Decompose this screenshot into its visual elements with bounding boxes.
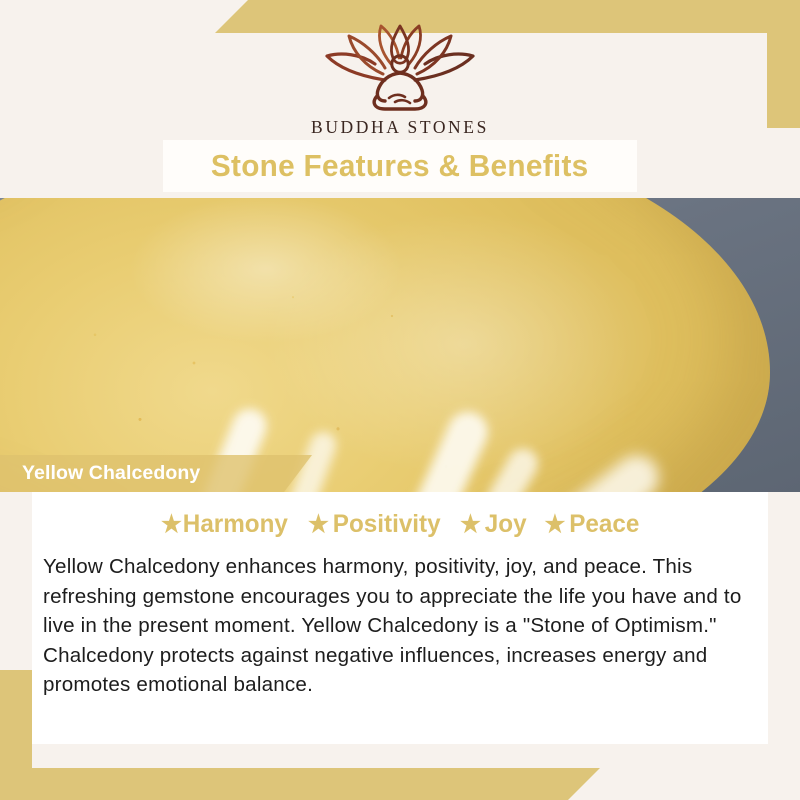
benefit-item-peace: ★ Peace (545, 510, 640, 539)
benefit-item-harmony: ★ Harmony (161, 510, 288, 539)
benefit-label: Positivity (333, 510, 441, 539)
benefit-label: Joy (484, 510, 526, 539)
stone-name-label: Yellow Chalcedony (22, 462, 200, 485)
stone-info-poster: BUDDHA STONES Stone Features & Benefits … (0, 0, 800, 800)
benefit-item-joy: ★ Joy (460, 510, 527, 539)
star-icon: ★ (545, 513, 566, 537)
lotus-meditation-figure-icon (315, 18, 485, 113)
stone-description: Yellow Chalcedony enhances harmony, posi… (43, 552, 757, 700)
benefit-label: Peace (569, 510, 639, 539)
stone-photo (0, 198, 800, 492)
benefit-item-positivity: ★ Positivity (308, 510, 441, 539)
gold-frame-left (0, 670, 32, 800)
star-icon: ★ (161, 513, 182, 537)
brand-logo: BUDDHA STONES (0, 18, 800, 138)
gold-frame-bottom (0, 768, 600, 800)
stone-name-tag: Yellow Chalcedony (0, 455, 312, 492)
page-title: Stone Features & Benefits (211, 148, 589, 184)
benefits-list: ★ Harmony ★ Positivity ★ Joy ★ Peace (32, 492, 768, 539)
benefit-label: Harmony (183, 510, 288, 539)
star-icon: ★ (460, 513, 481, 537)
star-icon: ★ (308, 513, 329, 537)
brand-name: BUDDHA STONES (311, 117, 489, 138)
title-banner: Stone Features & Benefits (163, 140, 637, 192)
yellow-chalcedony-stone (0, 198, 770, 492)
content-card: ★ Harmony ★ Positivity ★ Joy ★ Peace Yel… (32, 492, 768, 744)
stone-speckle-texture (0, 198, 770, 492)
